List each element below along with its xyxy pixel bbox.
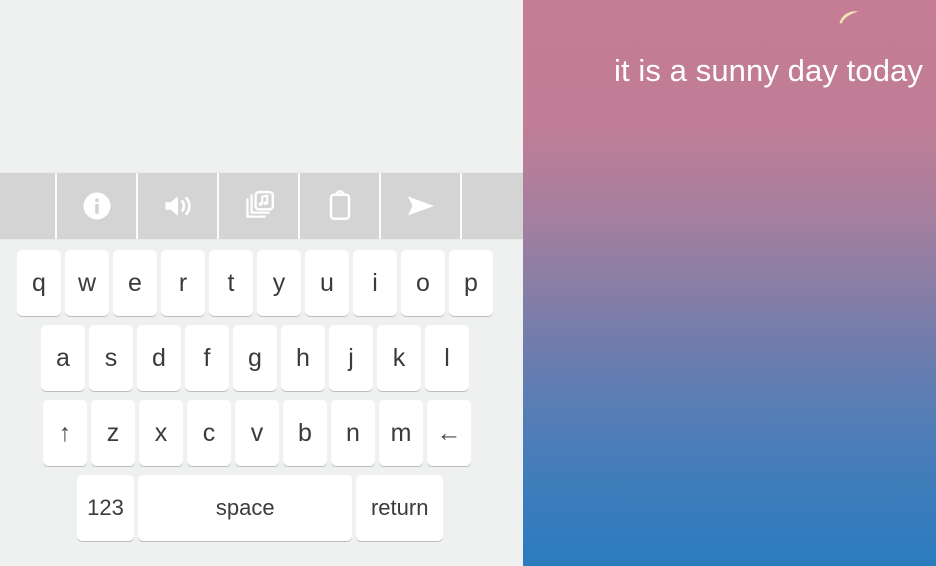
key-a[interactable]: a [41, 325, 85, 391]
key-o[interactable]: o [401, 250, 445, 316]
speaker-volume-icon [161, 189, 195, 223]
info-circle-icon [80, 189, 114, 223]
key-v[interactable]: v [235, 400, 279, 466]
key-shift[interactable]: ↑ [43, 400, 87, 466]
key-f[interactable]: f [185, 325, 229, 391]
keyboard-row-4: 123 space return [0, 475, 523, 541]
toolbar-button-clipboard[interactable] [300, 173, 381, 239]
key-x[interactable]: x [139, 400, 183, 466]
toolbar-button-media[interactable] [219, 173, 300, 239]
preview-text: it is a sunny day today [543, 50, 923, 91]
key-p[interactable]: p [449, 250, 493, 316]
key-s[interactable]: s [89, 325, 133, 391]
key-k[interactable]: k [377, 325, 421, 391]
key-u[interactable]: u [305, 250, 349, 316]
key-q[interactable]: q [17, 250, 61, 316]
key-b[interactable]: b [283, 400, 327, 466]
toolbar-button-info[interactable] [57, 173, 138, 239]
key-i[interactable]: i [353, 250, 397, 316]
key-l[interactable]: l [425, 325, 469, 391]
key-backspace[interactable]: ← [427, 400, 471, 466]
key-t[interactable]: t [209, 250, 253, 316]
keyboard-pane: q w e r t y u i o p a s d f g h j k l [0, 0, 523, 566]
send-paper-plane-icon [404, 189, 438, 223]
app-screen: q w e r t y u i o p a s d f g h j k l [0, 0, 936, 566]
key-r[interactable]: r [161, 250, 205, 316]
toolbar-spacer-left [0, 173, 57, 239]
key-e[interactable]: e [113, 250, 157, 316]
key-m[interactable]: m [379, 400, 423, 466]
music-library-icon [242, 189, 276, 223]
key-g[interactable]: g [233, 325, 277, 391]
keyboard-row-1: q w e r t y u i o p [0, 250, 523, 316]
keyboard-accessory-toolbar [0, 172, 523, 240]
toolbar-spacer-right [462, 173, 523, 239]
key-z[interactable]: z [91, 400, 135, 466]
key-return[interactable]: return [356, 475, 443, 541]
preview-pane: it is a sunny day today [523, 0, 936, 566]
toolbar-button-sound[interactable] [138, 173, 219, 239]
key-y[interactable]: y [257, 250, 301, 316]
keyboard-row-2: a s d f g h j k l [0, 325, 523, 391]
key-d[interactable]: d [137, 325, 181, 391]
text-entry-area[interactable] [0, 0, 523, 172]
on-screen-keyboard: q w e r t y u i o p a s d f g h j k l [0, 240, 523, 566]
key-n[interactable]: n [331, 400, 375, 466]
key-space[interactable]: space [138, 475, 352, 541]
toolbar-button-send[interactable] [381, 173, 462, 239]
key-j[interactable]: j [329, 325, 373, 391]
clipboard-icon [323, 189, 357, 223]
key-c[interactable]: c [187, 400, 231, 466]
keyboard-row-3: ↑ z x c v b n m ← [0, 400, 523, 466]
key-h[interactable]: h [281, 325, 325, 391]
key-w[interactable]: w [65, 250, 109, 316]
key-numbers-123[interactable]: 123 [77, 475, 134, 541]
